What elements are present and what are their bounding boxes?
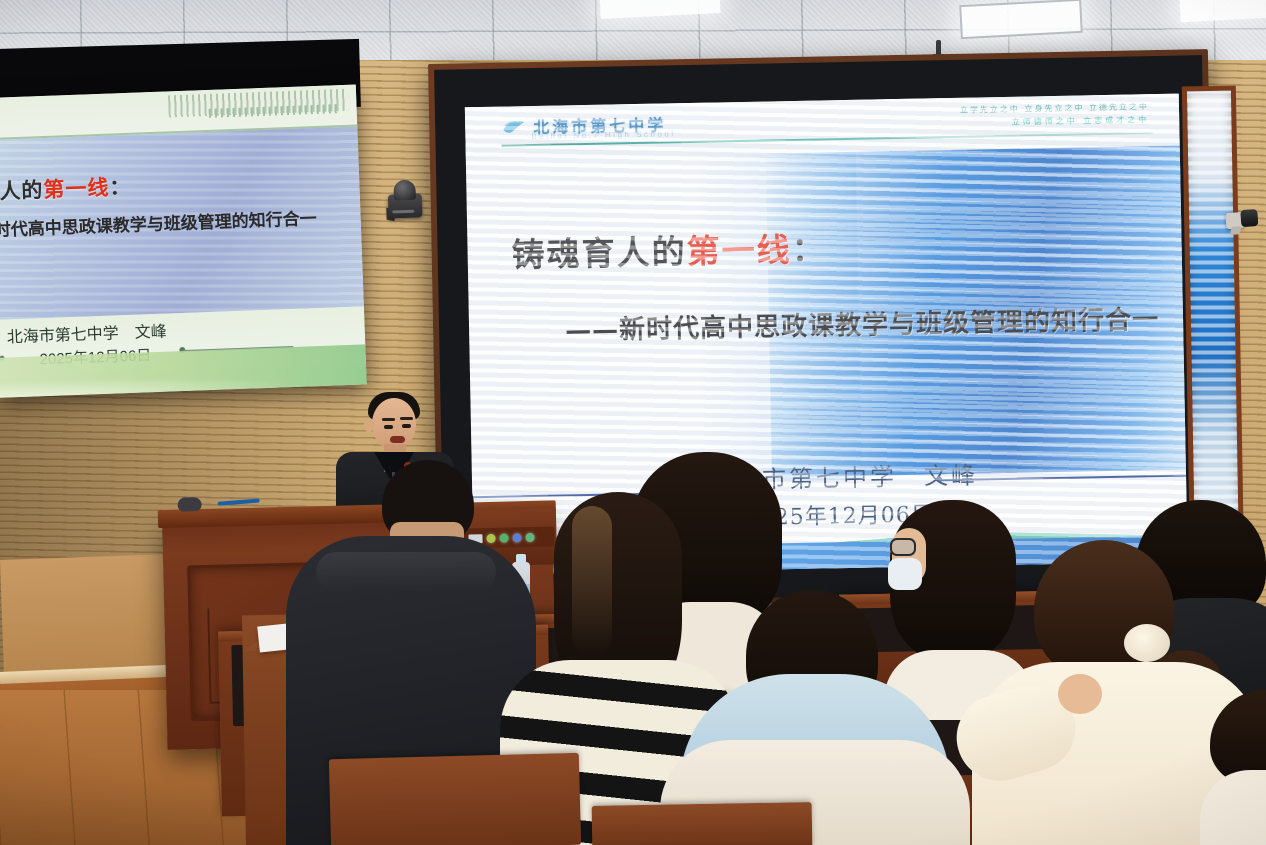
presenter-ear — [364, 418, 374, 432]
person-hand — [1058, 674, 1102, 714]
bird-logo-icon — [501, 116, 527, 136]
glasses-icon — [890, 538, 916, 556]
camera-lens — [1240, 209, 1258, 227]
left-slide-title-suffix: ： — [109, 176, 132, 200]
left-projection-screen: 铸魂育人的第一线： ——新时代高中思政课教学与班级管理的知行合一 北海市第七中学… — [0, 85, 367, 398]
presenter-mouth — [390, 436, 405, 443]
person-shoulder-highlight — [316, 552, 496, 592]
presenter-eye — [384, 425, 393, 429]
slide-motto: 立学先立之中 立身先立之中 立德先立之中 立师德师之中 立志成才之中 — [960, 100, 1150, 130]
ptz-camera-icon — [385, 179, 424, 222]
slide-title-prefix: 铸魂育人的 — [511, 232, 687, 274]
slide-title: 铸魂育人的第一线： — [511, 222, 827, 276]
person-top — [1200, 770, 1266, 845]
ceiling-light-panel — [959, 0, 1083, 39]
slide-title-suffix: ： — [791, 229, 827, 269]
chair-back — [592, 802, 813, 845]
person-hair-highlight — [572, 506, 612, 656]
lecture-hall-photo: 铸魂育人的第一线： ——新时代高中思政课教学与班级管理的知行合一 北海市第七中学… — [0, 0, 1266, 845]
wall-camera-icon — [1225, 205, 1261, 237]
camera-bracket — [1230, 226, 1242, 235]
camera-lens — [393, 180, 416, 201]
left-slide-title-prefix: 铸魂育人的 — [0, 179, 44, 206]
audience-person — [1210, 690, 1266, 845]
presenter-eye — [402, 424, 411, 428]
slide-blue-band — [765, 99, 1188, 477]
presenter-eyebrow — [382, 418, 395, 421]
window — [1182, 86, 1244, 567]
face-mask-icon — [888, 558, 922, 590]
mouse-icon — [177, 497, 201, 512]
slide-title-highlight: 第一线 — [686, 230, 792, 271]
presenter-eyebrow — [400, 417, 413, 420]
left-slide-title-highlight: 第一线 — [43, 177, 110, 202]
chair-back — [329, 753, 581, 845]
